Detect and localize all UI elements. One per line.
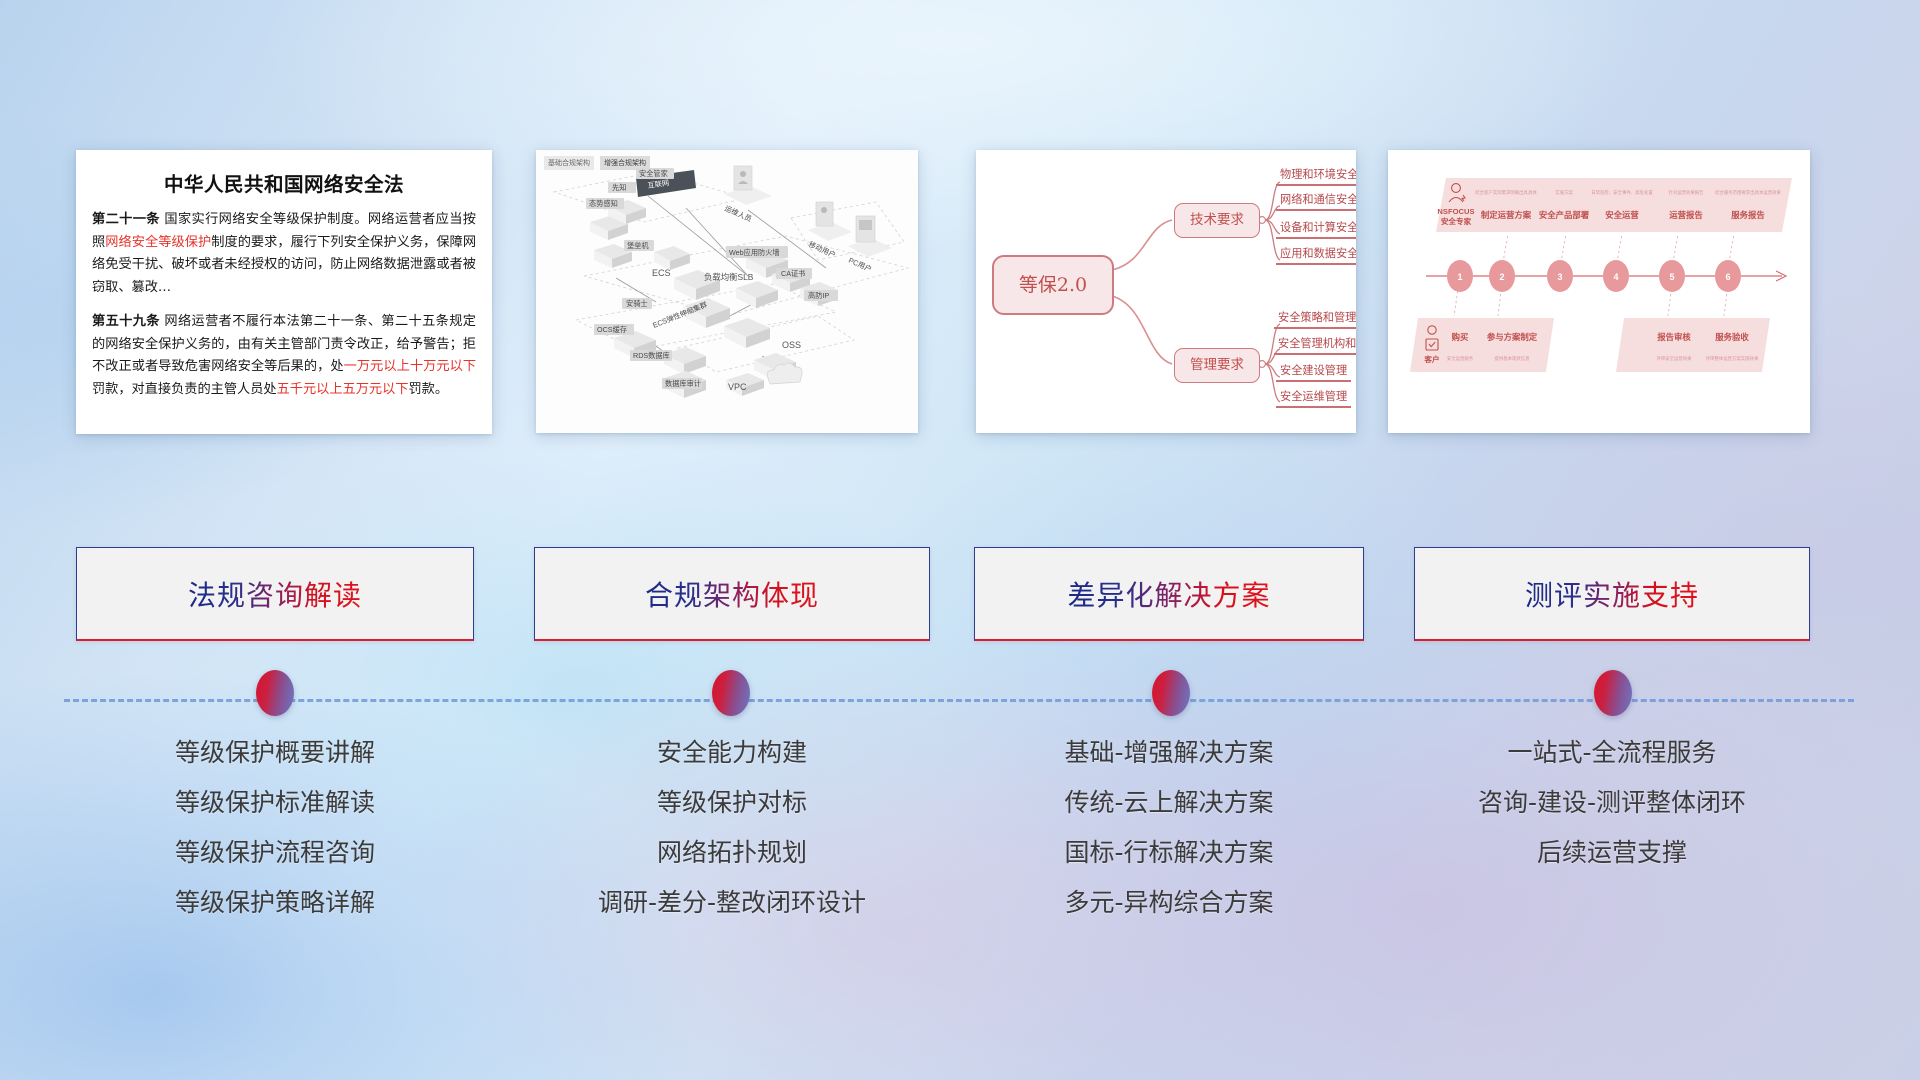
law-title: 中华人民共和国网络安全法 [92, 168, 476, 197]
svg-text:VPC: VPC [728, 382, 747, 392]
svg-text:结合客户实际需求明确出具具体: 结合客户实际需求明确出具具体 [1475, 189, 1537, 196]
svg-text:Web应用防火墙: Web应用防火墙 [729, 248, 780, 257]
section-header-row: 法规咨询解读 合规架构体现 差异化解决方案 测评实施支持 [0, 547, 1920, 647]
svg-text:安全运营: 安全运营 [1605, 210, 1639, 220]
mindmap-leaf-tech-4: 应用和数据安全 [1276, 245, 1356, 265]
svg-text:移动用户: 移动用户 [807, 240, 837, 260]
svg-text:针对运营效果报告: 针对运营效果报告 [1668, 189, 1704, 196]
svg-text:结合服务范围要求出具本运营效果: 结合服务范围要求出具本运营效果 [1715, 189, 1781, 196]
svg-text:安全产品部署: 安全产品部署 [1539, 210, 1590, 220]
section-header-differentiated-solution[interactable]: 差异化解决方案 [974, 547, 1364, 641]
list-item: 调研-差分-整改闭环设计 [534, 890, 930, 915]
svg-text:PC用户: PC用户 [847, 256, 873, 274]
section-header-label-3: 差异化解决方案 [1067, 574, 1270, 614]
mindmap-leaf-mgmt-1: 安全策略和管理制度 [1274, 309, 1356, 329]
svg-text:安骑士: 安骑士 [626, 299, 648, 308]
svg-text:安全专家: 安全专家 [1441, 216, 1472, 226]
law-article-59: 第五十九条 网络运营者不履行本法第二十一条、第二十五条规定的网络安全保护义务的，… [92, 311, 476, 402]
svg-text:制定运营方案: 制定运营方案 [1481, 210, 1532, 220]
svg-text:4: 4 [1613, 272, 1618, 282]
svg-text:NSFOCUS: NSFOCUS [1437, 207, 1474, 216]
svg-text:数据库审计: 数据库审计 [665, 379, 701, 388]
law-article-59-text-c: 罚款。 [409, 382, 449, 397]
law-article-21-highlight: 网络安全等级保护 [105, 235, 211, 250]
svg-text:高防IP: 高防IP [808, 291, 829, 300]
timeline-dot-4[interactable] [1594, 670, 1632, 716]
svg-text:服务验收: 服务验收 [1715, 332, 1749, 342]
section-header-label-4: 测评实施支持 [1525, 574, 1699, 614]
svg-text:购买: 购买 [1452, 332, 1469, 342]
image-card-row: 中华人民共和国网络安全法 第二十一条 国家实行网络安全等级保护制度。网络运营者应… [0, 150, 1920, 450]
law-article-59-highlight-2: 五千元以上五万元以下 [277, 382, 409, 397]
law-article-59-label: 第五十九条 [92, 314, 160, 329]
section-header-assessment-support[interactable]: 测评实施支持 [1414, 547, 1810, 641]
svg-text:堡垒机: 堡垒机 [627, 241, 649, 250]
section-items-row: 等级保护概要讲解 等级保护标准解读 等级保护流程咨询 等级保护策略详解 安全能力… [0, 740, 1920, 970]
list-item: 网络拓扑规划 [534, 840, 930, 865]
architecture-diagram: 基础合规架构 增强合规架构 [536, 150, 918, 433]
svg-text:安全运营服务: 安全运营服务 [1447, 355, 1474, 362]
section-items-column-3: 基础-增强解决方案 传统-云上解决方案 国标-行标解决方案 多元-异构综合方案 [974, 740, 1364, 940]
nsfocus-bottom-band-right [1616, 318, 1770, 372]
svg-text:报告审核: 报告审核 [1657, 332, 1691, 342]
timeline-dot-2[interactable] [712, 670, 750, 716]
svg-text:先知: 先知 [612, 183, 626, 192]
list-item: 多元-异构综合方案 [974, 890, 1364, 915]
svg-text:态势感知: 态势感知 [589, 199, 618, 208]
svg-text:OCS缓存: OCS缓存 [597, 325, 627, 334]
svg-text:OSS: OSS [782, 340, 801, 350]
svg-text:安全管家: 安全管家 [639, 169, 668, 178]
nsfocus-svg: 1 2 3 4 5 6 NSFOCUS 安全专家 [1388, 150, 1810, 433]
list-item: 一站式-全流程服务 [1414, 740, 1810, 765]
list-item: 国标-行标解决方案 [974, 840, 1364, 865]
law-article-21-label: 第二十一条 [92, 212, 160, 227]
svg-text:实施方案: 实施方案 [1555, 189, 1573, 196]
svg-text:5: 5 [1669, 272, 1674, 282]
svg-text:运营报告: 运营报告 [1669, 210, 1703, 220]
law-article-59-highlight-1: 一万元以上十万元以下 [344, 359, 476, 374]
mindmap-branch-management[interactable]: 管理要求 [1174, 348, 1260, 383]
list-item: 基础-增强解决方案 [974, 740, 1364, 765]
list-item: 安全能力构建 [534, 740, 930, 765]
mindmap: 等保2.0 技术要求 管理要求 物理和环境安全 网络和通信安全 设备和计算安全 … [976, 150, 1356, 433]
list-item: 传统-云上解决方案 [974, 790, 1364, 815]
svg-text:运维人员: 运维人员 [723, 204, 753, 224]
svg-text:3: 3 [1557, 272, 1562, 282]
svg-text:客户: 客户 [1424, 354, 1439, 364]
mindmap-leaf-mgmt-3: 安全建设管理 [1276, 362, 1351, 382]
architecture-boxes [590, 166, 892, 398]
law-document: 中华人民共和国网络安全法 第二十一条 国家实行网络安全等级保护制度。网络运营者应… [76, 150, 492, 434]
svg-text:RDS数据库: RDS数据库 [633, 351, 670, 360]
section-header-label-1: 法规咨询解读 [188, 574, 362, 614]
law-article-21: 第二十一条 国家实行网络安全等级保护制度。网络运营者应当按照网络安全等级保护制度… [92, 209, 476, 300]
law-article-59-text-b: 罚款，对直接负责的主管人员处 [92, 382, 277, 397]
mindmap-leaf-mgmt-4: 安全运维管理 [1276, 388, 1351, 408]
svg-text:1: 1 [1457, 272, 1462, 282]
list-item: 等级保护概要讲解 [76, 740, 474, 765]
timeline-dot-3[interactable] [1152, 670, 1190, 716]
list-item: 等级保护流程咨询 [76, 840, 474, 865]
section-items-column-1: 等级保护概要讲解 等级保护标准解读 等级保护流程咨询 等级保护策略详解 [76, 740, 474, 940]
architecture-svg: 互联网 [536, 150, 918, 433]
list-item: 后续运营支撑 [1414, 840, 1810, 865]
svg-text:6: 6 [1725, 272, 1730, 282]
section-header-compliance-architecture[interactable]: 合规架构体现 [534, 547, 930, 641]
card-mindmap-dengbao[interactable]: 等保2.0 技术要求 管理要求 物理和环境安全 网络和通信安全 设备和计算安全 … [976, 150, 1356, 433]
mindmap-root[interactable]: 等保2.0 [992, 255, 1114, 315]
svg-text:2: 2 [1499, 272, 1504, 282]
list-item: 等级保护策略详解 [76, 890, 474, 915]
mindmap-leaf-tech-2: 网络和通信安全 [1276, 191, 1356, 211]
mindmap-leaf-mgmt-2: 安全管理机构和人员 [1274, 335, 1356, 355]
svg-text:服务报告: 服务报告 [1731, 210, 1765, 220]
svg-text:评审整体运营方案实施效果: 评审整体运营方案实施效果 [1706, 355, 1759, 362]
svg-text:评审安全运营效果: 评审安全运营效果 [1656, 355, 1692, 362]
section-items-column-2: 安全能力构建 等级保护对标 网络拓扑规划 调研-差分-整改闭环设计 [534, 740, 930, 940]
timeline-dashed-line [64, 699, 1854, 702]
nsfocus-timeline: 1 2 3 4 5 6 NSFOCUS 安全专家 [1388, 150, 1810, 433]
list-item: 等级保护对标 [534, 790, 930, 815]
list-item: 咨询-建设-测评整体闭环 [1414, 790, 1810, 815]
svg-text:CA证书: CA证书 [781, 269, 805, 278]
list-item: 等级保护标准解读 [76, 790, 474, 815]
svg-text:负载均衡SLB: 负载均衡SLB [704, 272, 754, 282]
svg-text:提供基本现状信息: 提供基本现状信息 [1494, 355, 1530, 362]
section-header-regulation-consulting[interactable]: 法规咨询解读 [76, 547, 474, 641]
nsfocus-top-band [1436, 178, 1792, 232]
card-nsfocus-service-timeline[interactable]: 1 2 3 4 5 6 NSFOCUS 安全专家 [1388, 150, 1810, 433]
timeline-track [0, 670, 1920, 730]
svg-text:日常巡检、安全事件、高危处置: 日常巡检、安全事件、高危处置 [1591, 189, 1653, 196]
mindmap-leaf-tech-3: 设备和计算安全 [1276, 219, 1356, 239]
timeline-dot-1[interactable] [256, 670, 294, 716]
section-header-label-2: 合规架构体现 [645, 574, 819, 614]
card-compliance-architecture[interactable]: 基础合规架构 增强合规架构 [536, 150, 918, 433]
svg-text:ECS: ECS [652, 268, 671, 278]
svg-text:参与方案制定: 参与方案制定 [1486, 332, 1538, 342]
card-cybersecurity-law[interactable]: 中华人民共和国网络安全法 第二十一条 国家实行网络安全等级保护制度。网络运营者应… [76, 150, 492, 434]
mindmap-leaf-tech-1: 物理和环境安全 [1276, 166, 1356, 186]
mindmap-branch-technical[interactable]: 技术要求 [1174, 203, 1260, 238]
section-items-column-4: 一站式-全流程服务 咨询-建设-测评整体闭环 后续运营支撑 [1414, 740, 1810, 890]
